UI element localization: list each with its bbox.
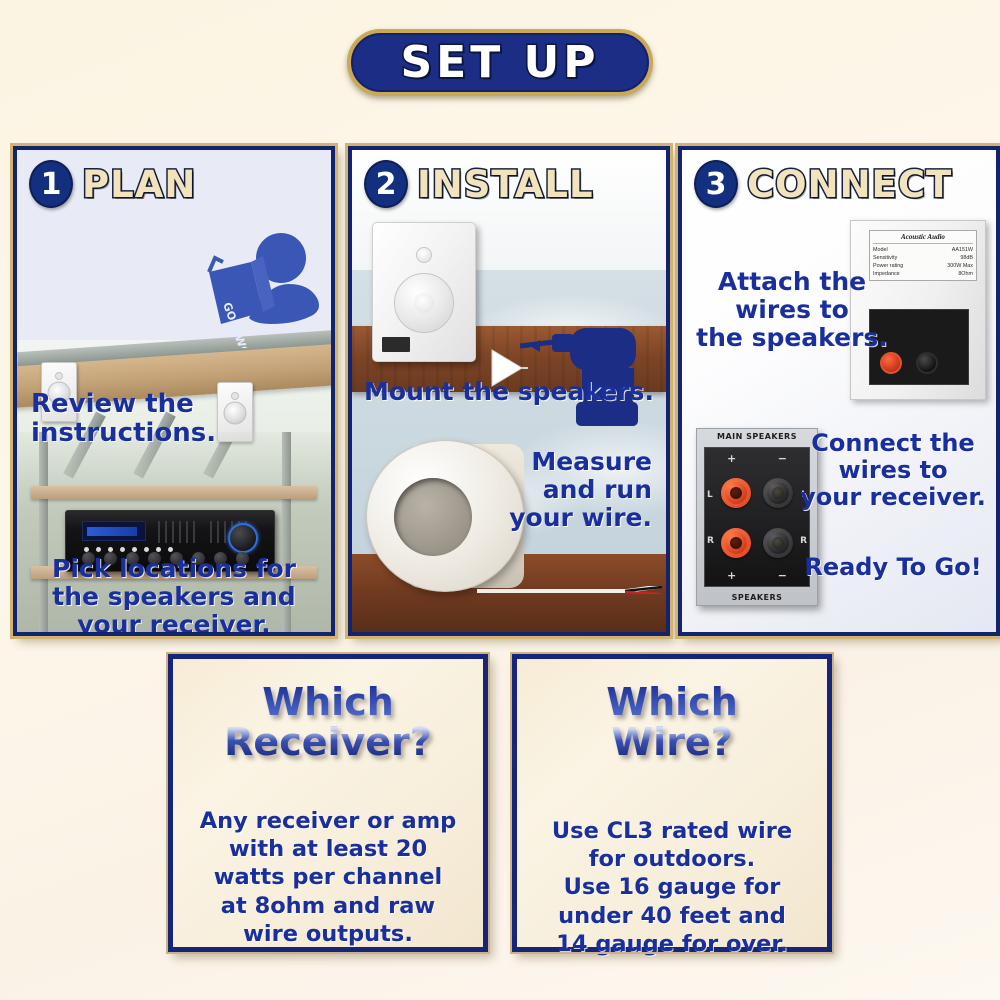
step-header-connect: 3 CONNECT [694,160,952,208]
minus-symbol: − [778,569,787,582]
step-number-badge: 1 [29,160,73,208]
step-title: PLAN [82,163,196,206]
info-box-which-receiver: Which Receiver? Any receiver or amp with… [168,654,488,952]
spool-hub [394,478,472,556]
left-channel-label: L [707,490,713,500]
plus-symbol: + [727,569,736,582]
tweeter-icon [55,372,63,380]
info-box-body: Use CL3 rated wire for outdoors. Use 16 … [529,817,815,959]
tweeter-icon [416,247,432,263]
step-panel-connect: Acoustic Audio Model AA151W Sensitivity … [678,146,1000,636]
page-title: SET UP [400,37,599,88]
step-header-install: 2 INSTALL [364,160,594,208]
step-title: INSTALL [417,163,594,206]
binding-panel-body: + − L L R R + − [704,447,810,587]
negative-terminal-icon [916,352,938,374]
step-instruction-text: Connect the wires to your receiver. [798,430,988,511]
step-title: CONNECT [747,163,952,206]
binding-panel-bottom-caption: SPEAKERS [697,590,817,605]
right-channel-label: R [707,536,714,546]
step-instruction-text: Review the instructions. [31,390,231,448]
receiver-display [82,521,146,541]
step-header-plan: 1 PLAN [29,160,196,208]
info-box-title: Which Receiver? [185,683,471,763]
header-banner: SET UP [347,29,653,96]
spec-row: Sensitivity 98dB [873,254,973,262]
binding-post-red-left [721,478,751,508]
minus-symbol: − [778,452,787,465]
step-instruction-text: Measure and run your wire. [492,448,652,532]
step-panel-plan: 1 PLAN GOLDWOOD Review the instructions.… [13,146,335,636]
spec-value: 98dB [960,254,973,262]
step-number-badge: 2 [364,160,408,208]
plus-symbol: + [727,452,736,465]
info-box-body: Any receiver or amp with at least 20 wat… [185,807,471,949]
spec-row: Model AA151W [873,246,973,254]
binding-post-black-right [763,528,793,558]
step-number-badge: 3 [694,160,738,208]
ready-to-go-text: Ready To Go! [798,554,988,581]
step-instruction-text: Pick locations for the speakers and your… [17,555,331,632]
binding-post-red-right [721,528,751,558]
spec-value: 8Ohm [958,270,973,278]
info-box-which-wire: Which Wire? Use CL3 rated wire for outdo… [512,654,832,952]
spec-brand: Acoustic Audio [873,233,973,244]
positive-terminal-icon [880,352,902,374]
spec-key: Sensitivity [873,254,897,262]
spec-value: 300W Max [947,262,973,270]
wall-speaker-icon [372,222,476,362]
rack-shelf-icon [31,486,317,499]
speaker-brand-badge [382,337,410,352]
spec-key: Model [873,246,888,254]
spec-value: AA151W [952,246,973,254]
right-channel-label: R [800,536,807,546]
speaker-wire-icon [477,586,662,594]
info-box-title: Which Wire? [529,683,815,763]
volume-knob-icon [228,523,258,553]
step-instruction-text: Attach the wires to the speakers. [692,268,892,352]
person-reading-icon: GOLDWOOD [193,228,325,348]
step-panel-install: 2 INSTALL Mount the speakers. Measure an… [348,146,670,636]
step-instruction-text: Mount the speakers. [352,378,666,406]
binding-post-black-left [763,478,793,508]
tweeter-icon [231,392,239,400]
woofer-icon [394,273,454,333]
